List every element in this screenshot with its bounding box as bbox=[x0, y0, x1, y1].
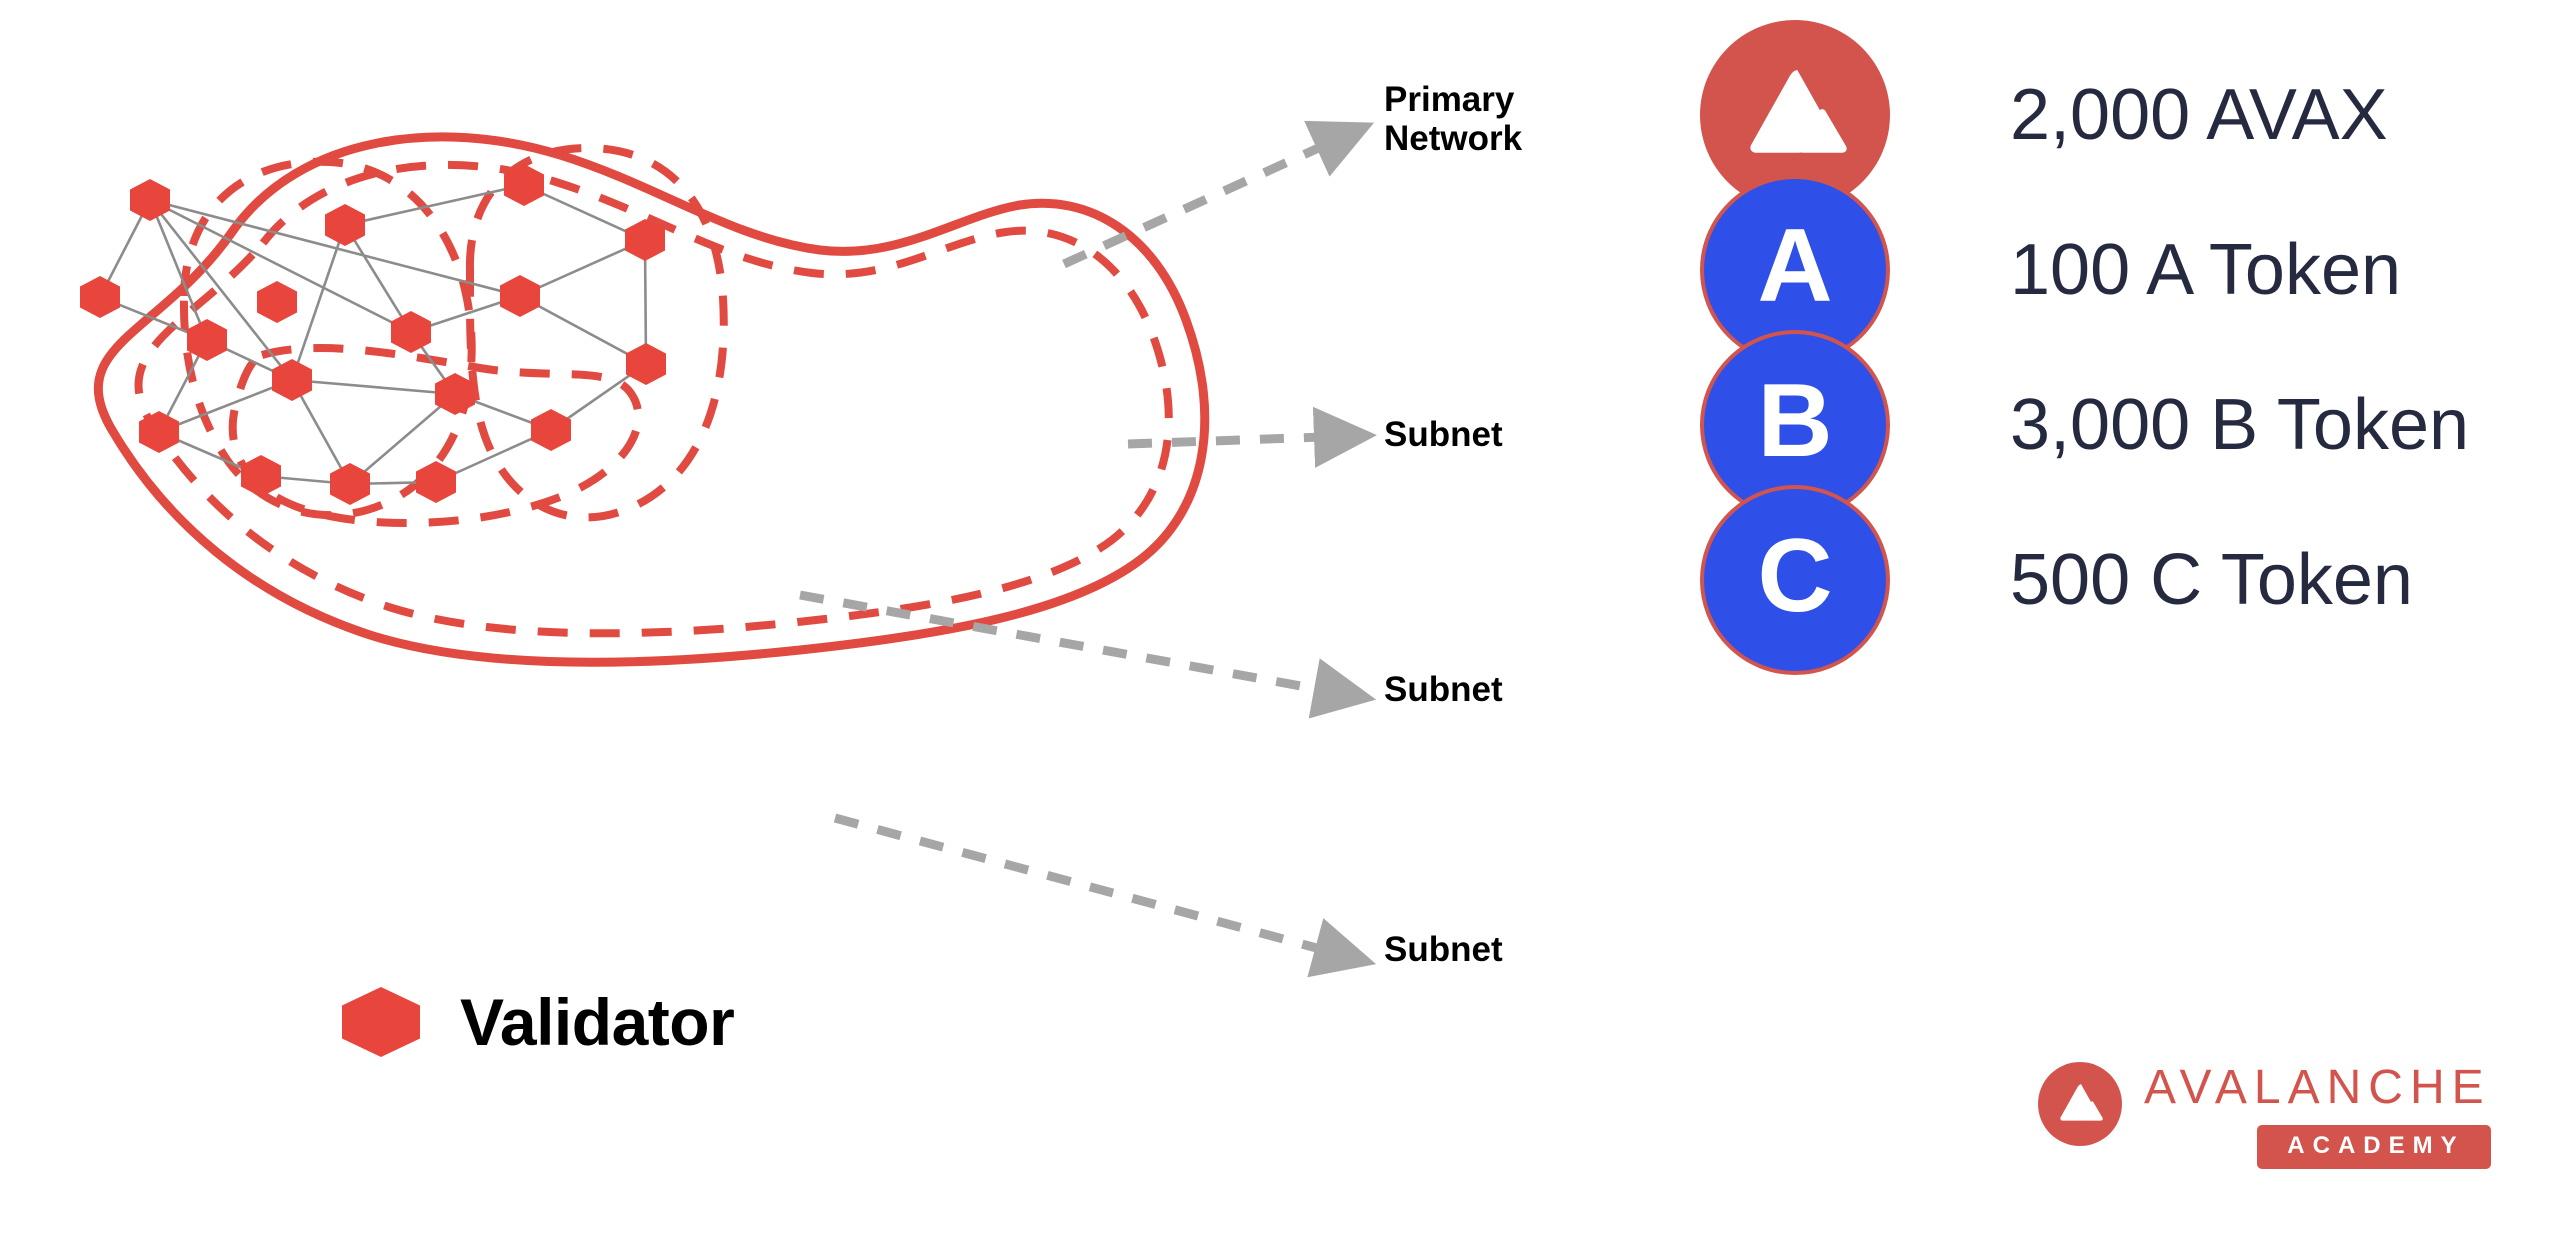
validator-node bbox=[435, 373, 475, 415]
avax-logo-icon bbox=[1736, 56, 1854, 174]
validator-node bbox=[257, 281, 297, 323]
badge-letter: A bbox=[1757, 214, 1832, 318]
token-amount: 2,000 AVAX bbox=[2010, 79, 2388, 151]
arrow-subnet-a bbox=[1128, 437, 1323, 444]
validator-node bbox=[330, 463, 370, 505]
callout-label-subnet-c: Subnet bbox=[1384, 930, 1503, 969]
validator-node bbox=[391, 311, 431, 353]
validator-node bbox=[325, 204, 365, 246]
callout-arrows bbox=[800, 145, 1325, 950]
avalanche-logo-icon bbox=[2038, 1062, 2122, 1146]
academy-bottom-text: ACADEMY bbox=[2287, 1134, 2464, 1158]
academy-wordmark: AVALANCHE ACADEMY bbox=[2144, 1060, 2491, 1169]
badge-letter: B bbox=[1757, 369, 1832, 473]
hexagon-icon bbox=[340, 985, 422, 1059]
validator-node bbox=[416, 461, 456, 503]
token-amount: 3,000 B Token bbox=[2010, 389, 2469, 461]
validator-node bbox=[187, 319, 227, 361]
arrow-primary-network bbox=[1064, 145, 1325, 264]
validator-node bbox=[80, 276, 120, 318]
diagram-canvas: Primary Network Subnet Subnet Subnet Val… bbox=[0, 0, 2558, 1258]
validator-node bbox=[626, 343, 666, 385]
token-amount: 500 C Token bbox=[2010, 544, 2413, 616]
validator-node bbox=[272, 359, 312, 401]
arrow-subnet-c bbox=[835, 818, 1324, 950]
validator-node bbox=[241, 455, 281, 497]
validator-node bbox=[531, 409, 571, 451]
token-list: 2,000 AVAX A 100 A Token B 3,000 B Token… bbox=[1700, 0, 2558, 1000]
token-row: C 500 C Token bbox=[1700, 485, 2413, 675]
legend-label: Validator bbox=[460, 989, 734, 1055]
avalanche-academy-logo: AVALANCHE ACADEMY bbox=[2038, 1060, 2491, 1169]
callout-label-subnet-b: Subnet bbox=[1384, 670, 1503, 709]
validator-node bbox=[130, 179, 170, 221]
avalanche-mark-glyph bbox=[2054, 1078, 2106, 1130]
legend: Validator bbox=[340, 985, 734, 1059]
academy-badge: ACADEMY bbox=[2257, 1125, 2490, 1169]
academy-top-text: AVALANCHE bbox=[2144, 1060, 2491, 1115]
validator-node bbox=[500, 275, 540, 317]
callout-label-primary-network: Primary Network bbox=[1384, 80, 1522, 158]
subnet-badge-c: C bbox=[1700, 485, 1890, 675]
callout-label-subnet-a: Subnet bbox=[1384, 415, 1503, 454]
badge-letter: C bbox=[1757, 524, 1832, 628]
token-amount: 100 A Token bbox=[2010, 234, 2401, 306]
